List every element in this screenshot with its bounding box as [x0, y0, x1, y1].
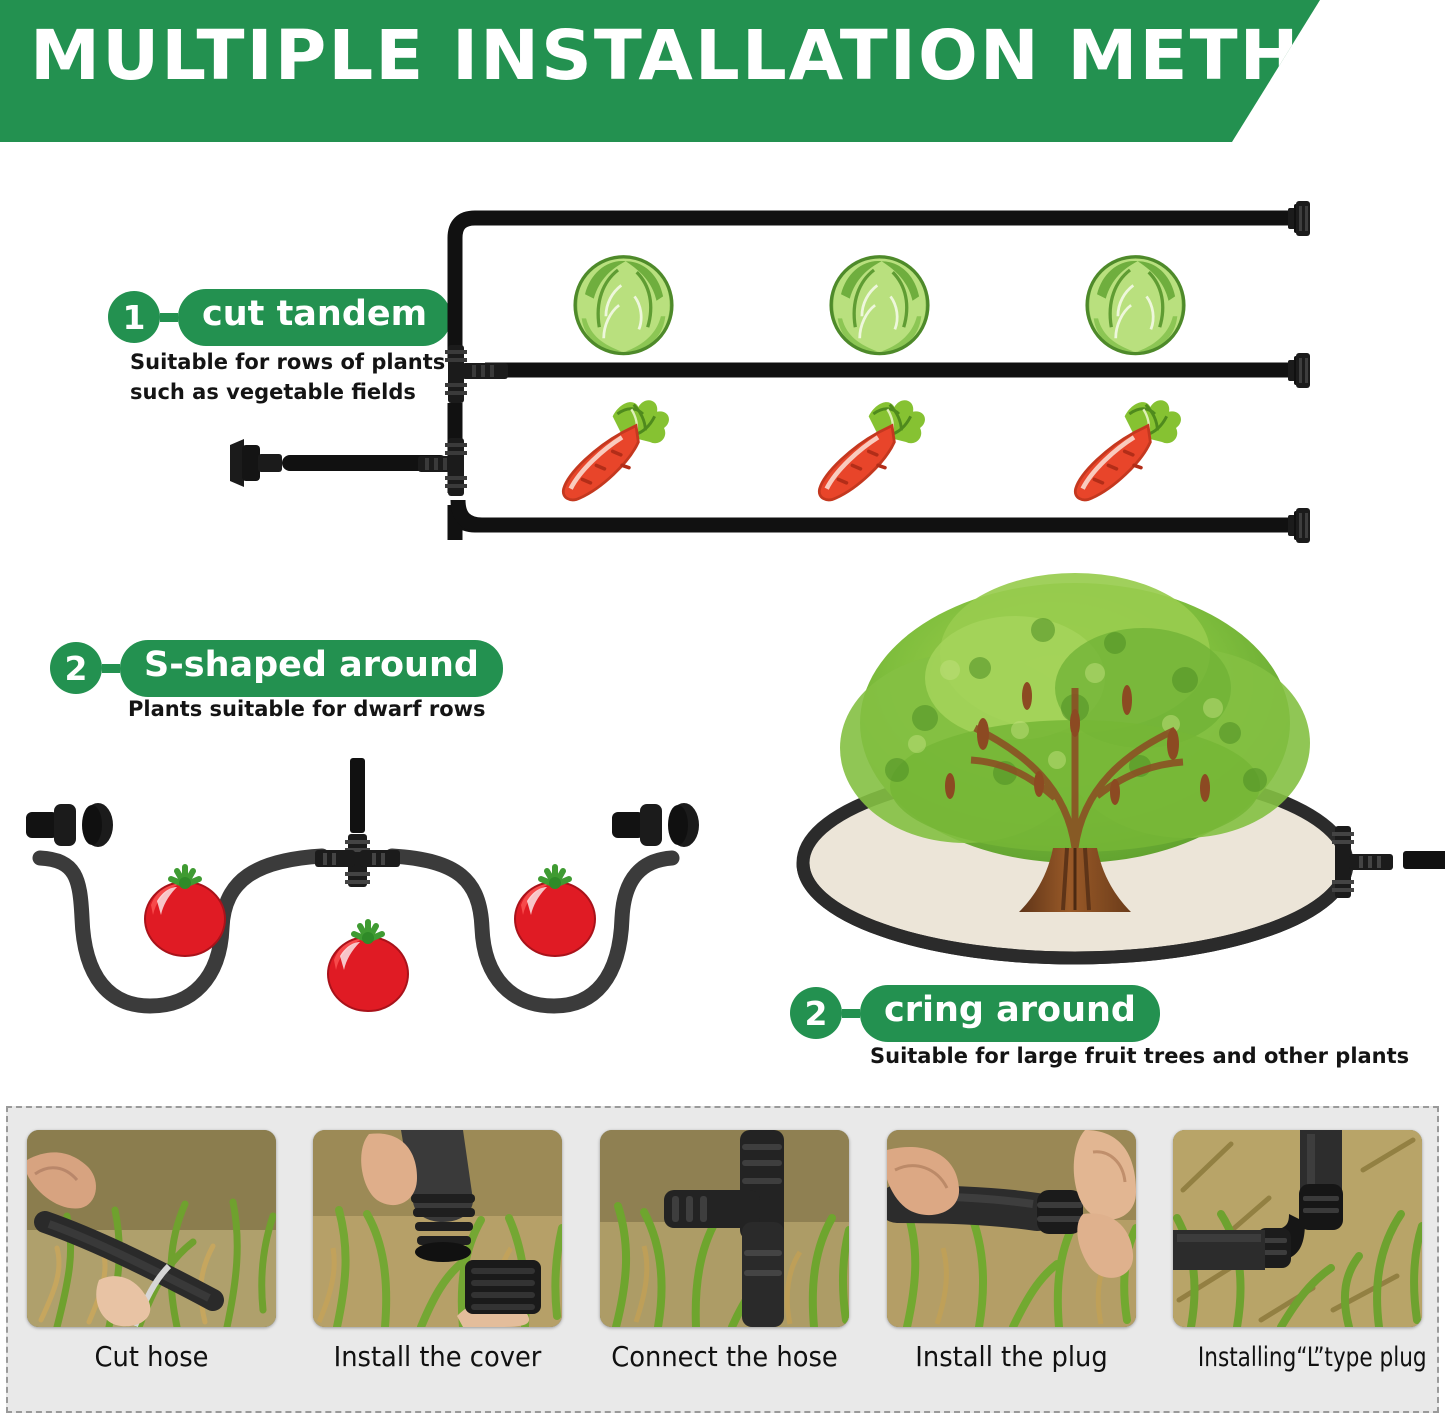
step-photo-install-cover: [313, 1130, 562, 1327]
tree-canopy: [840, 573, 1310, 863]
end-cap-icon-middle: [1288, 353, 1310, 388]
step-thumbnail-install-plug[interactable]: [887, 1130, 1136, 1327]
ring-supply-hose: [1403, 851, 1445, 869]
cap-icon-left: [82, 803, 113, 847]
carrot-icon-1: [552, 390, 692, 508]
method-3-label: cring around: [860, 985, 1160, 1042]
badge-connector-dash: [160, 313, 178, 322]
cabbage-icon-2: [812, 248, 947, 358]
method-1-number: 1: [108, 291, 160, 343]
step-thumbnail-connect-hose[interactable]: [600, 1130, 849, 1327]
faucet-adapter-icon: [230, 439, 282, 487]
cap-icon-right: [668, 803, 699, 847]
step-photo-cut-hose: [27, 1130, 276, 1327]
method-3-badge: 2 cring around: [790, 985, 1160, 1042]
cabbage-icon-1: [556, 248, 691, 358]
method-2-description: Plants suitable for dwarf rows: [128, 695, 486, 725]
method-2-label: S-shaped around: [120, 640, 503, 697]
badge-connector-dash: [102, 664, 120, 673]
step-captions: Cut hose Install the cover Connect the h…: [8, 1340, 1441, 1373]
method-2-number: 2: [50, 642, 102, 694]
method-2-badge: 2 S-shaped around: [50, 640, 503, 697]
carrot-icon-2: [808, 390, 948, 508]
infographic-page: MULTIPLE INSTALLATION METHODS 1 cut tand…: [0, 0, 1445, 1419]
plug-icon-left: [26, 804, 76, 846]
step-caption-5: Installing“L”type plug: [1198, 1342, 1397, 1373]
tomato-icon-2: [318, 910, 418, 1020]
step-photo-install-plug: [887, 1130, 1136, 1327]
method-3-tree-diagram: [775, 548, 1445, 988]
step-thumbnail-cut-hose[interactable]: [27, 1130, 276, 1327]
tee-connector-ring: [1332, 826, 1393, 898]
step-photo-connect-hose: [600, 1130, 849, 1327]
tomato-icon-3: [505, 855, 605, 965]
cabbage-icon-3: [1068, 248, 1203, 358]
plug-icon-right: [612, 804, 662, 846]
end-cap-icon-top: [1288, 201, 1310, 236]
step-thumbnails: [8, 1130, 1441, 1330]
end-cap-icon-bottom: [1288, 508, 1310, 543]
step-photo-install-l-plug: [1173, 1130, 1422, 1327]
installation-steps-strip: Cut hose Install the cover Connect the h…: [6, 1106, 1439, 1413]
step-caption-4: Install the plug: [897, 1340, 1126, 1373]
step-caption-3: Connect the hose: [610, 1340, 839, 1373]
step-thumbnail-install-l-plug[interactable]: [1173, 1130, 1422, 1327]
tee-connector-lower: [418, 438, 467, 496]
method-3-description: Suitable for large fruit trees and other…: [870, 1042, 1409, 1072]
page-title: MULTIPLE INSTALLATION METHODS: [30, 16, 1445, 96]
tomato-icon-1: [135, 855, 235, 965]
tee-connector-center: [315, 834, 400, 887]
method-3-number: 2: [790, 987, 842, 1039]
carrot-icon-3: [1064, 390, 1204, 508]
step-thumbnail-install-cover[interactable]: [313, 1130, 562, 1327]
badge-connector-dash: [842, 1009, 860, 1018]
header-banner: MULTIPLE INSTALLATION METHODS: [0, 0, 1320, 142]
tee-connector-upper: [445, 345, 508, 403]
step-caption-1: Cut hose: [37, 1340, 266, 1373]
vertical-feed-hose: [350, 758, 365, 833]
step-caption-2: Install the cover: [323, 1340, 552, 1373]
